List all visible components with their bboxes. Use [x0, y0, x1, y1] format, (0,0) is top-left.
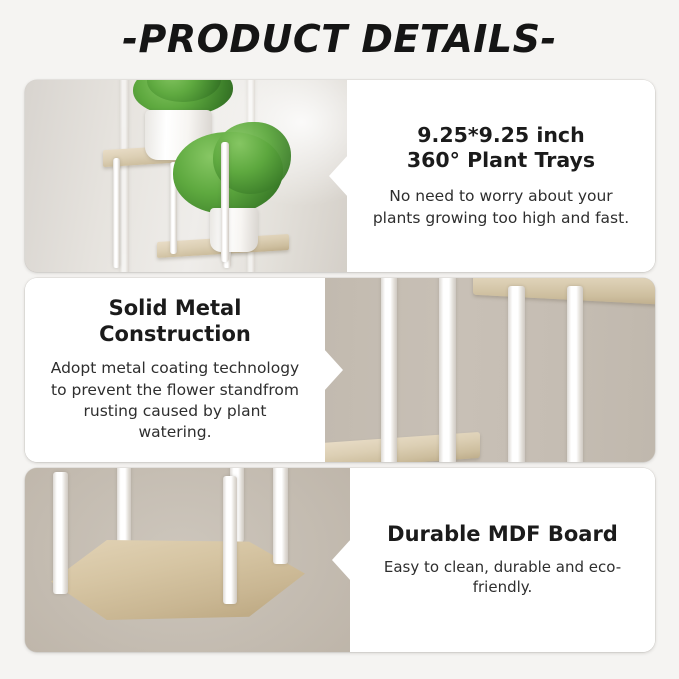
photo-background: [325, 278, 655, 462]
pole-icon: [221, 142, 229, 262]
feature-panel-solid-metal-construction: Solid Metal Construction Adopt metal coa…: [25, 278, 655, 462]
feature-image-plant-trays: [25, 80, 347, 272]
feature-heading: Solid Metal Construction: [47, 296, 303, 347]
pole-icon: [223, 476, 237, 604]
product-details-infographic: -PRODUCT DETAILS-: [0, 0, 679, 679]
pole-icon: [508, 286, 525, 462]
feature-panel-durable-mdf-board: Durable MDF Board Easy to clean, durable…: [25, 468, 655, 652]
feature-heading: 9.25*9.25 inch 360° Plant Trays: [407, 123, 595, 173]
feature-image-solid-metal-construction: [325, 278, 655, 462]
feature-heading-line1: 9.25*9.25 inch: [417, 123, 584, 147]
pole-icon: [273, 468, 288, 564]
pole-icon: [120, 80, 129, 272]
feature-body: Adopt metal coating technology to preven…: [47, 358, 303, 444]
pole-icon: [53, 472, 68, 594]
feature-heading-line2: 360° Plant Trays: [407, 148, 595, 172]
pole-icon: [381, 278, 397, 462]
plant-pot: [210, 208, 258, 252]
feature-text-plant-trays: 9.25*9.25 inch 360° Plant Trays No need …: [347, 80, 655, 272]
feature-panel-plant-trays: 9.25*9.25 inch 360° Plant Trays No need …: [25, 80, 655, 272]
pole-icon: [439, 278, 456, 462]
pole-icon: [113, 158, 120, 268]
page-title-text: -PRODUCT DETAILS-: [122, 17, 557, 61]
feature-image-durable-mdf-board: [25, 468, 350, 652]
feature-heading: Durable MDF Board: [387, 522, 618, 548]
feature-text-solid-metal-construction: Solid Metal Construction Adopt metal coa…: [25, 278, 325, 462]
feature-text-durable-mdf-board: Durable MDF Board Easy to clean, durable…: [350, 468, 655, 652]
page-title: -PRODUCT DETAILS-: [0, 0, 679, 78]
pole-icon: [567, 286, 583, 462]
feature-body: No need to worry about your plants growi…: [369, 186, 633, 229]
feature-body: Easy to clean, durable and eco-friendly.: [372, 557, 633, 598]
